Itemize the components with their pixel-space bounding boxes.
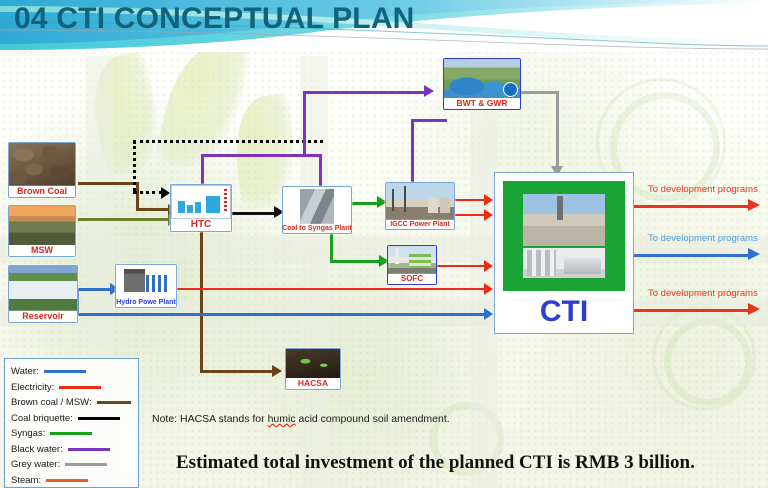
node-msw[interactable]: MSW [8,205,76,257]
investment-statement: Estimated total investment of the planne… [176,452,695,474]
hacsa-thumbnail [286,349,340,378]
igcc-label: IGCC Power Plant [389,220,451,229]
legend-label-water: Water: [11,366,39,377]
arrowhead-hacsa [272,365,282,377]
output-label-3: To development programs [648,288,758,299]
output-label-2: To development programs [648,233,758,244]
line-blackwater-top-h [303,91,425,94]
line-blackwater-htc-v [201,155,204,187]
legend-swatch-grey-water [65,463,107,466]
hydro-thumbnail [116,265,176,298]
brown-coal-thumbnail [9,143,75,186]
cti-tanks-photo [523,248,606,278]
water-drop-icon [503,82,518,97]
htc-label: HTC [190,219,213,232]
node-hacsa[interactable]: HACSA [285,348,341,390]
node-igcc-power-plant[interactable]: IGCC Power Plant [385,182,455,230]
line-msw-1 [78,218,170,221]
line-cti-out-3 [634,309,646,312]
arrowhead-output-2 [748,248,760,260]
note-text: Note: HACSA stands for humic acid compou… [152,413,450,425]
legend-swatch-coal-briquette [78,417,120,420]
line-hydro-elec [176,288,489,290]
legend-swatch-water [44,370,86,373]
arrowhead-elec-igcc-1 [484,194,493,206]
hacsa-label: HACSA [297,378,329,389]
page-title: 04 CTI CONCEPTUAL PLAN [14,2,415,36]
legend-label-grey-water: Grey water: [11,459,60,470]
igcc-thumbnail [386,183,454,220]
legend-swatch-steam [46,479,88,482]
line-htc-to-hacsa-h [200,370,274,373]
arrowhead-blackwater-bwt [424,85,434,97]
line-blackwater-igcc-v [411,120,414,182]
line-output-3 [644,309,752,312]
line-syngas-sofc-v [330,234,333,262]
arrowhead-output-3 [748,303,760,315]
arrowhead-hydro-elec [484,283,493,295]
cti-plant-photo [523,194,606,246]
arrowhead-elec-sofc [484,260,493,272]
arrowhead-elec-igcc-2 [484,209,493,221]
legend-item-brown-coal-msw: Brown coal / MSW: [11,395,132,411]
msw-label: MSW [30,245,54,256]
legend-item-grey-water: Grey water: [11,457,132,473]
line-cti-out-1 [634,205,646,208]
line-briquette-into-htc [133,191,163,194]
line-brown-coal-2 [136,182,139,210]
line-greywater-v [556,91,559,169]
legend-swatch-electricity [59,386,101,389]
line-brown-coal-1 [78,182,138,185]
line-syngas-igcc [352,202,380,205]
line-briquette-vert [133,141,136,191]
legend-label-black-water: Black water: [11,444,63,455]
arrowhead-briquette [161,187,170,199]
legend-panel: Water: Electricity: Brown coal / MSW: Co… [4,358,139,488]
legend-item-steam: Steam: [11,473,132,488]
line-blackwater-syngas-v [319,154,322,188]
node-cti[interactable]: CTI [494,172,634,334]
legend-item-electricity: Electricity: [11,380,132,396]
node-hydro-power-plant[interactable]: Hydro Powe Plant [115,264,177,308]
slide-canvas: 04 CTI CONCEPTUAL PLAN [0,0,768,488]
output-label-1: To development programs [648,184,758,195]
sofc-thumbnail [388,246,436,274]
legend-swatch-black-water [68,448,110,451]
cti-label: CTI [540,293,588,333]
msw-thumbnail [9,206,75,245]
legend-label-electricity: Electricity: [11,382,54,393]
note-underlined-word: humic [268,413,296,425]
note-suffix: acid compound soil amendment. [296,413,450,425]
reservoir-label: Reservoir [21,311,65,322]
line-htc-to-hacsa-v [200,232,203,372]
cti-green-panel [503,181,625,291]
syngas-plant-label: Coal to Syngas Plant [281,224,353,233]
line-output-1 [644,205,752,208]
line-blackwater-igcc-h [411,119,447,122]
line-brown-coal-3 [136,208,170,211]
node-coal-to-syngas-plant[interactable]: Coal to Syngas Plant [282,186,352,234]
legend-swatch-syngas [50,432,92,435]
node-bwt-gwr[interactable]: BWT & GWR [443,58,521,110]
legend-label-syngas: Syngas: [11,428,45,439]
line-briquette-horiz [133,140,323,143]
line-cti-out-2 [634,254,646,257]
line-htc-to-syngas [231,212,277,215]
slide-header: 04 CTI CONCEPTUAL PLAN [0,0,768,52]
node-reservoir[interactable]: Reservoir [8,265,78,323]
arrowhead-reservoir-water [484,308,493,320]
syngas-plant-thumbnail [300,189,334,224]
bwt-gwr-thumbnail [444,59,520,98]
legend-label-coal-briquette: Coal briquette: [11,413,73,424]
arrowhead-output-1 [748,199,760,211]
sofc-label: SOFC [400,274,424,284]
note-prefix: Note: HACSA stands for [152,413,268,425]
legend-item-coal-briquette: Coal briquette: [11,411,132,427]
reservoir-thumbnail [9,266,77,311]
node-sofc[interactable]: SOFC [387,245,437,285]
line-blackwater-riser [303,92,306,155]
legend-item-water: Water: [11,364,132,380]
node-htc[interactable]: HTC [170,184,232,232]
legend-label-brown-coal-msw: Brown coal / MSW: [11,397,92,408]
line-reservoir-water-h [76,313,489,316]
brown-coal-label: Brown Coal [16,186,68,197]
legend-item-syngas: Syngas: [11,426,132,442]
line-reservoir-to-hydro [78,288,114,291]
line-syngas-sofc-h [330,260,382,263]
bwt-gwr-label: BWT & GWR [456,98,509,109]
hydro-label: Hydro Powe Plant [115,298,177,307]
node-brown-coal[interactable]: Brown Coal [8,142,76,198]
htc-thumbnail [171,185,231,219]
line-output-2 [644,254,752,257]
line-elec-sofc [436,265,489,267]
legend-swatch-brown-coal-msw [97,401,131,404]
line-greywater-h [521,91,558,94]
legend-label-steam: Steam: [11,475,41,486]
legend-item-black-water: Black water: [11,442,132,458]
